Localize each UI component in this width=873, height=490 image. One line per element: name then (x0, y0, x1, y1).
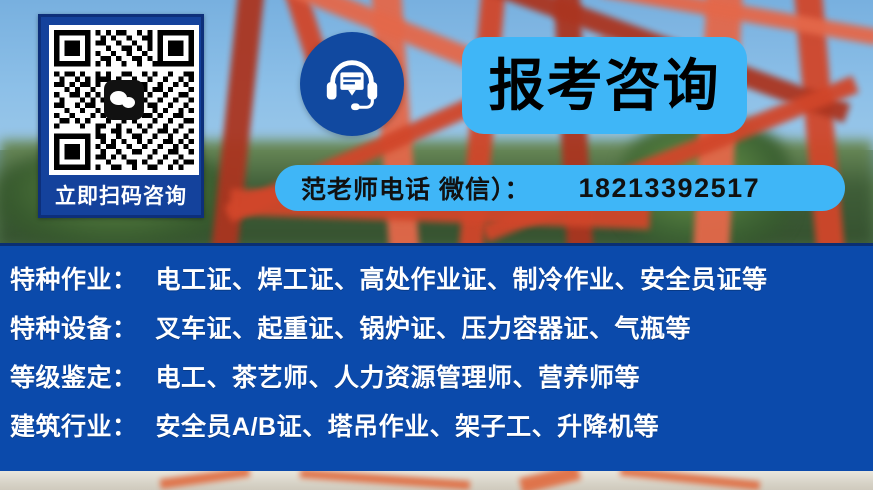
bottom-photo-strip (0, 471, 873, 490)
contact-bar[interactable]: 范老师电话 微信）： 18213392517 (275, 165, 845, 211)
service-category: 建筑行业： (10, 407, 138, 443)
promo-poster: 立即扫码咨询 报考咨询 范老师电话 微信）： 18213392517 特种作业：… (0, 0, 873, 490)
qr-code-image[interactable] (49, 25, 199, 175)
title-badge: 报考咨询 (462, 37, 747, 134)
service-row: 建筑行业： 安全员A/B证、塔吊作业、架子工、升降机等 (10, 407, 873, 456)
service-category: 特种设备： (10, 309, 138, 345)
qr-caption: 立即扫码咨询 (49, 175, 193, 219)
service-items: 电工证、焊工证、高处作业证、制冷作业、安全员证等 (156, 260, 768, 296)
service-items: 电工、茶艺师、人力资源管理师、营养师等 (156, 358, 641, 394)
contact-label: 范老师电话 微信）： (301, 170, 530, 206)
strip-beam (519, 471, 581, 490)
strip-beam (620, 471, 760, 490)
service-items: 叉车证、起重证、锅炉证、压力容器证、气瓶等 (156, 309, 692, 345)
service-row: 特种作业： 电工证、焊工证、高处作业证、制冷作业、安全员证等 (10, 260, 873, 309)
wechat-icon (104, 80, 144, 120)
contact-phone-number[interactable]: 18213392517 (578, 173, 760, 204)
qr-code-card[interactable]: 立即扫码咨询 (38, 14, 204, 218)
service-row: 等级鉴定： 电工、茶艺师、人力资源管理师、营养师等 (10, 358, 873, 407)
page-title: 报考咨询 (489, 58, 721, 114)
headset-support-icon (300, 32, 404, 136)
service-items: 安全员A/B证、塔吊作业、架子工、升降机等 (156, 407, 660, 443)
services-panel: 特种作业： 电工证、焊工证、高处作业证、制冷作业、安全员证等 特种设备： 叉车证… (0, 243, 873, 471)
service-category: 特种作业： (10, 260, 138, 296)
service-category: 等级鉴定： (10, 358, 138, 394)
strip-beam (160, 471, 251, 489)
strip-beam (300, 471, 470, 490)
service-row: 特种设备： 叉车证、起重证、锅炉证、压力容器证、气瓶等 (10, 309, 873, 358)
